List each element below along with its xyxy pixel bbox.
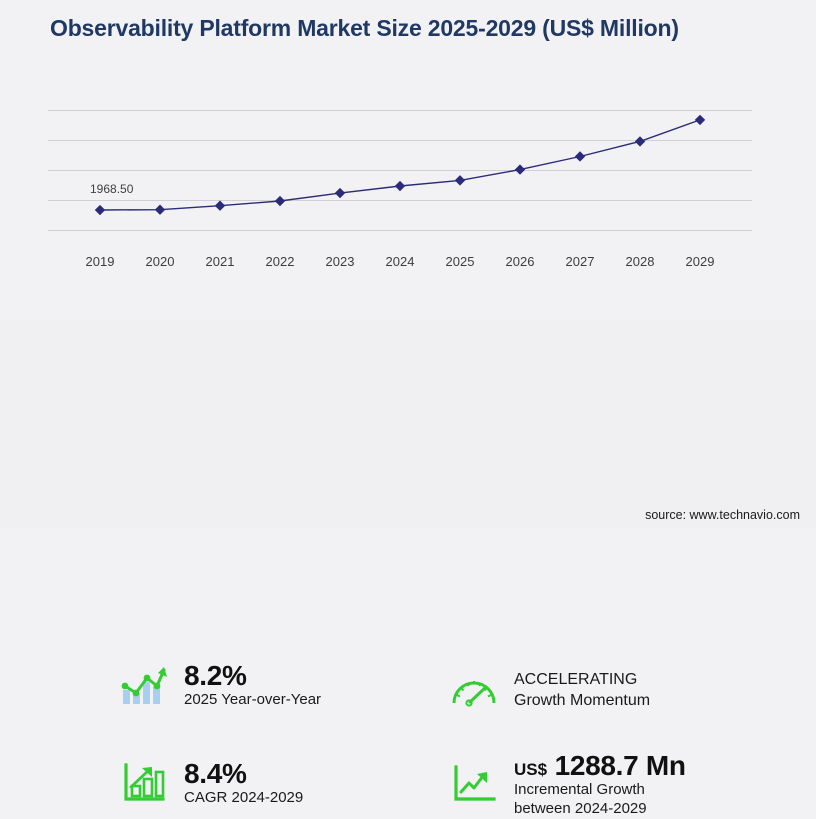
stat-label-line2: between 2024-2029: [514, 800, 686, 819]
stat-unit: US$: [514, 760, 547, 779]
stat-text: ACCELERATING Growth Momentum: [514, 669, 650, 711]
x-axis-tick: 2026: [506, 254, 535, 269]
data-point-marker: [695, 115, 705, 125]
x-axis-tick: 2020: [146, 254, 175, 269]
bar-line-growth-icon: [118, 661, 170, 709]
stat-value: US$ 1288.7 Mn: [514, 750, 686, 781]
market-size-line-series: [48, 98, 752, 244]
bar-chart-arrow-icon: [118, 759, 170, 807]
stat-cagr: 8.4% CAGR 2024-2029: [118, 758, 303, 808]
x-axis-tick: 2021: [206, 254, 235, 269]
stat-amount: 1288.7 Mn: [555, 750, 686, 781]
data-point-marker: [95, 205, 105, 215]
speedometer-icon: [448, 666, 500, 714]
data-point-marker: [575, 151, 585, 161]
stat-incremental-growth: US$ 1288.7 Mn Incremental Growth between…: [448, 750, 686, 819]
x-axis-tick: 2022: [266, 254, 295, 269]
data-point-marker: [455, 175, 465, 185]
x-axis-tick: 2029: [686, 254, 715, 269]
x-axis-tick: 2027: [566, 254, 595, 269]
stat-label: 2025 Year-over-Year: [184, 691, 321, 710]
data-point-marker: [515, 164, 525, 174]
chart-plot-area: 1968.50: [48, 98, 752, 244]
stat-growth-momentum: ACCELERATING Growth Momentum: [448, 666, 650, 714]
stat-text: US$ 1288.7 Mn Incremental Growth between…: [514, 750, 686, 819]
stat-value: 8.2%: [184, 660, 321, 691]
source-attribution: source: www.technavio.com: [645, 508, 800, 522]
stat-value: ACCELERATING: [514, 669, 650, 690]
line-chart-arrow-icon: [448, 760, 500, 808]
x-axis-labels: 2019202020212022202320242025202620272028…: [48, 254, 752, 276]
x-axis-tick: 2023: [326, 254, 355, 269]
stat-label: Growth Momentum: [514, 690, 650, 711]
data-point-label: 1968.50: [90, 182, 133, 196]
stats-section: 8.2% 2025 Year-over-Year 8.4% CAGR 2024-…: [0, 320, 816, 528]
x-axis-tick: 2025: [446, 254, 475, 269]
stat-year-over-year: 8.2% 2025 Year-over-Year: [118, 660, 321, 710]
data-point-marker: [215, 201, 225, 211]
stat-label: CAGR 2024-2029: [184, 789, 303, 808]
stat-text: 8.4% CAGR 2024-2029: [184, 758, 303, 808]
data-point-marker: [275, 196, 285, 206]
x-axis-tick: 2019: [86, 254, 115, 269]
x-axis-tick: 2024: [386, 254, 415, 269]
stat-value: 8.4%: [184, 758, 303, 789]
data-point-marker: [395, 181, 405, 191]
stat-text: 8.2% 2025 Year-over-Year: [184, 660, 321, 710]
data-point-marker: [155, 205, 165, 215]
page-title: Observability Platform Market Size 2025-…: [50, 14, 740, 44]
market-size-infographic: Observability Platform Market Size 2025-…: [0, 0, 816, 528]
x-axis-tick: 2028: [626, 254, 655, 269]
stat-label-line1: Incremental Growth: [514, 781, 686, 800]
data-point-marker: [635, 136, 645, 146]
chart-section: Observability Platform Market Size 2025-…: [0, 0, 816, 320]
data-point-marker: [335, 188, 345, 198]
